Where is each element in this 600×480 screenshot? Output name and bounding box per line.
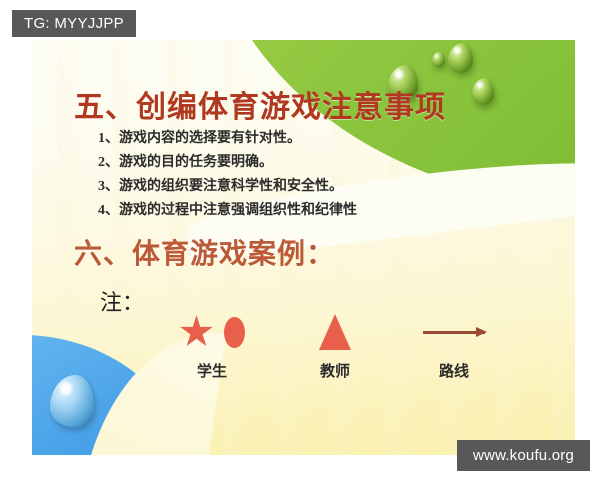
notice-bullet-list: 1、游戏内容的选择要有针对性。 2、游戏的目的任务要明确。 3、游戏的组织要注意…	[98, 132, 357, 228]
list-item: 4、游戏的过程中注意强调组织性和纪律性	[98, 204, 357, 218]
site-watermark-badge: www.koufu.org	[457, 440, 590, 471]
legend-label-teacher: 教师	[280, 360, 390, 381]
telegram-watermark-badge: TG: MYYJJPP	[12, 10, 136, 37]
symbol-legend: 学生 教师 路线	[32, 310, 575, 420]
arrow-right-icon	[423, 331, 485, 334]
list-item: 3、游戏的组织要注意科学性和安全性。	[98, 180, 357, 194]
legend-label-route: 路线	[394, 360, 514, 381]
star-icon	[180, 315, 214, 349]
legend-glyph-group	[394, 310, 514, 354]
legend-label-students: 学生	[152, 360, 272, 381]
presentation-slide: 五、创编体育游戏注意事项 1、游戏内容的选择要有针对性。 2、游戏的目的任务要明…	[32, 40, 575, 455]
legend-item-teacher: 教师	[280, 310, 390, 381]
legend-glyph-group	[152, 310, 272, 354]
screenshot-canvas: 五、创编体育游戏注意事项 1、游戏内容的选择要有针对性。 2、游戏的目的任务要明…	[0, 0, 600, 480]
legend-item-route: 路线	[394, 310, 514, 381]
triangle-icon	[319, 314, 351, 350]
slide-title-sub: 六、体育游戏案例：	[74, 232, 335, 272]
list-item: 2、游戏的目的任务要明确。	[98, 156, 357, 170]
slide-title-main: 五、创编体育游戏注意事项	[74, 82, 446, 126]
list-item: 1、游戏内容的选择要有针对性。	[98, 132, 357, 146]
slide-content: 五、创编体育游戏注意事项 1、游戏内容的选择要有针对性。 2、游戏的目的任务要明…	[32, 40, 575, 455]
legend-item-students: 学生	[152, 310, 272, 381]
legend-glyph-group	[280, 310, 390, 354]
ellipse-icon	[224, 317, 245, 348]
